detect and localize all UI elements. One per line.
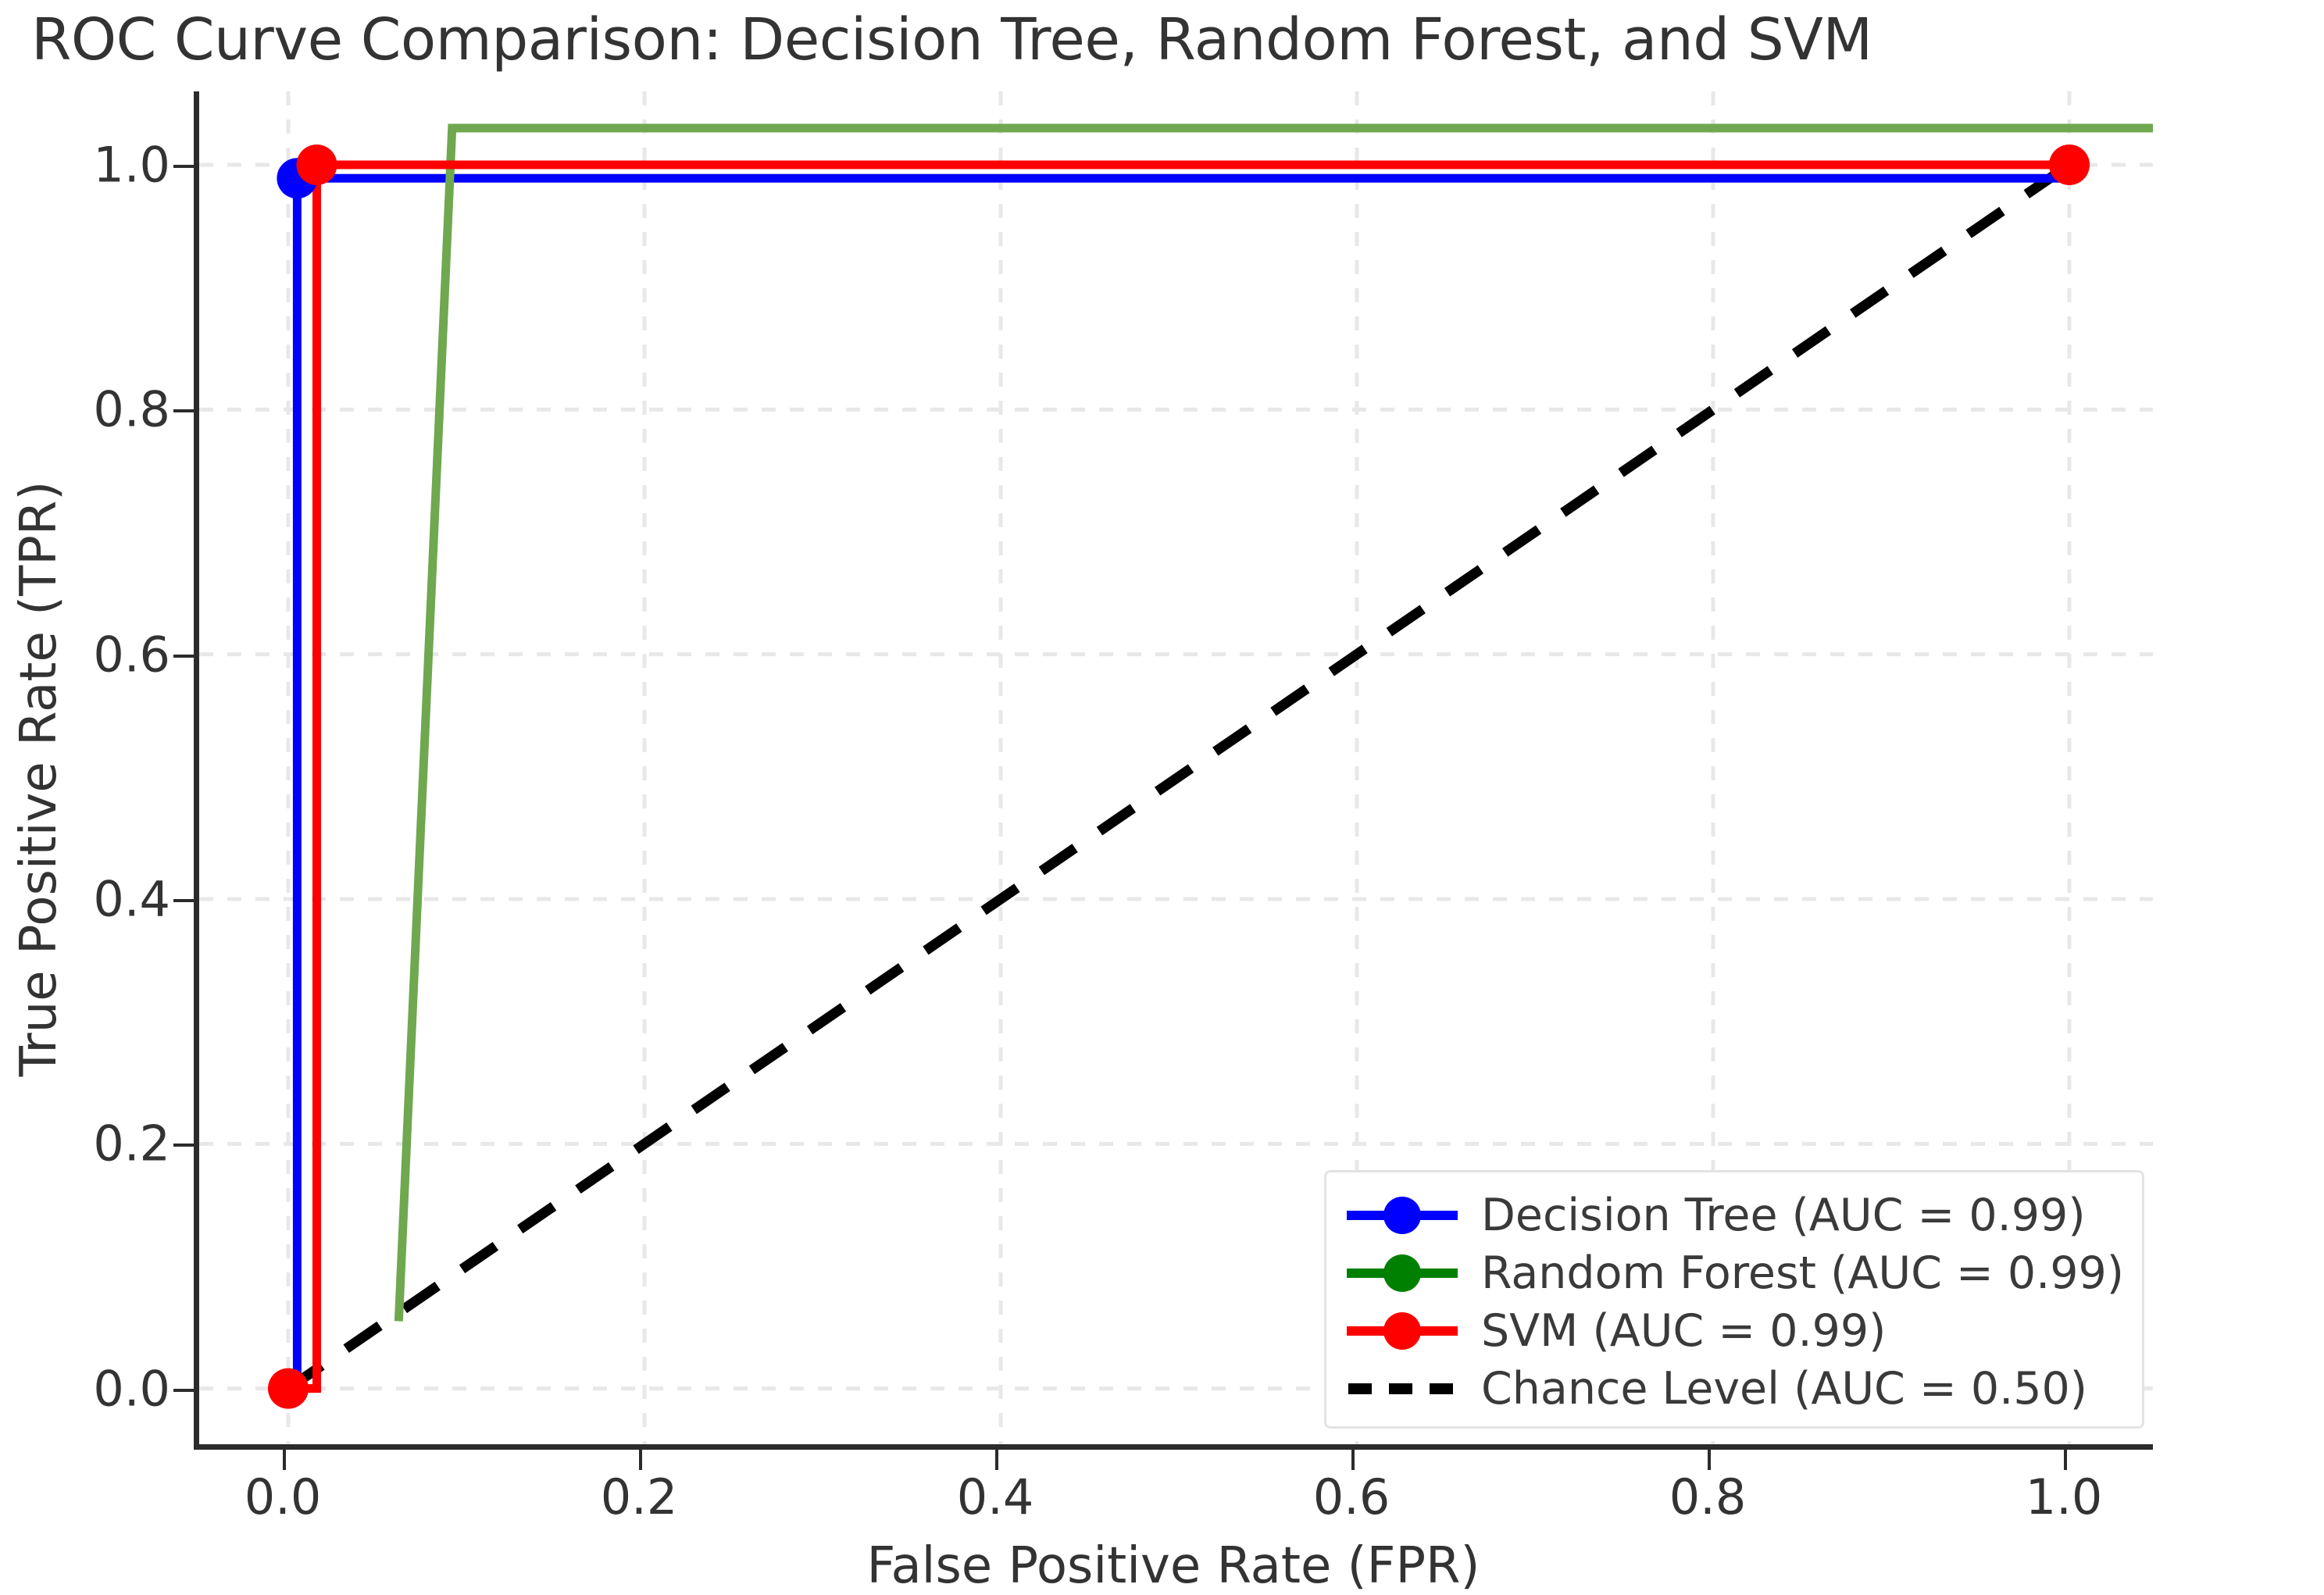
legend-marker-dot [1383, 1197, 1421, 1234]
legend-swatch-icon [1344, 1254, 1461, 1293]
legend-swatch-icon [1344, 1369, 1461, 1408]
legend-item[interactable]: Chance Level (AUC = 0.50) [1344, 1360, 2125, 1418]
x-tickmark [639, 1450, 642, 1470]
x-tickmark [1708, 1450, 1711, 1470]
x-tick-label: 0.0 [181, 1468, 384, 1525]
legend-swatch-icon [1344, 1196, 1461, 1235]
legend-item[interactable]: Decision Tree (AUC = 0.99) [1344, 1186, 2125, 1244]
legend-marker-dot [1383, 1312, 1421, 1350]
x-tick-label: 1.0 [1962, 1468, 2165, 1525]
legend-label: SVM (AUC = 0.99) [1481, 1305, 1886, 1357]
series-line-random-forest [398, 128, 2153, 1322]
legend-label: Decision Tree (AUC = 0.99) [1481, 1190, 2086, 1241]
x-axis-label: False Positive Rate (FPR) [194, 1537, 2153, 1595]
series-marker-svm [296, 145, 337, 185]
series-marker-svm [268, 1368, 309, 1409]
x-tick-label: 0.8 [1606, 1468, 1809, 1525]
x-axis-tick-labels: 0.00.20.40.60.81.0 [194, 1468, 2153, 1531]
legend-label: Chance Level (AUC = 0.50) [1481, 1363, 2087, 1415]
legend-label: Random Forest (AUC = 0.99) [1481, 1247, 2124, 1299]
y-tickmark [173, 165, 194, 168]
y-tickmark [173, 1389, 194, 1392]
legend-swatch-icon [1344, 1311, 1461, 1351]
x-tickmark [1351, 1450, 1355, 1470]
legend-marker-dot [1383, 1254, 1421, 1292]
y-tickmark [173, 1144, 194, 1147]
legend-box[interactable]: Decision Tree (AUC = 0.99)Random Forest … [1324, 1170, 2144, 1429]
y-tickmark [173, 899, 194, 902]
y-axis-label: True Positive Rate (TPR) [10, 76, 68, 1482]
x-tick-label: 0.4 [894, 1468, 1097, 1525]
x-tickmark [995, 1450, 998, 1470]
series-marker-svm [2049, 145, 2090, 185]
x-tick-label: 0.2 [537, 1468, 741, 1525]
roc-chart-figure: ROC Curve Comparison: Decision Tree, Ran… [0, 0, 2324, 1590]
y-tickmark [173, 655, 194, 658]
y-tickmark [173, 409, 194, 412]
legend-item[interactable]: SVM (AUC = 0.99) [1344, 1302, 2125, 1360]
x-tickmark [283, 1450, 286, 1470]
x-tick-label: 0.6 [1250, 1468, 1453, 1525]
chart-title: ROC Curve Comparison: Decision Tree, Ran… [31, 6, 2297, 73]
x-tickmark [2064, 1450, 2067, 1470]
legend-item[interactable]: Random Forest (AUC = 0.99) [1344, 1244, 2125, 1302]
